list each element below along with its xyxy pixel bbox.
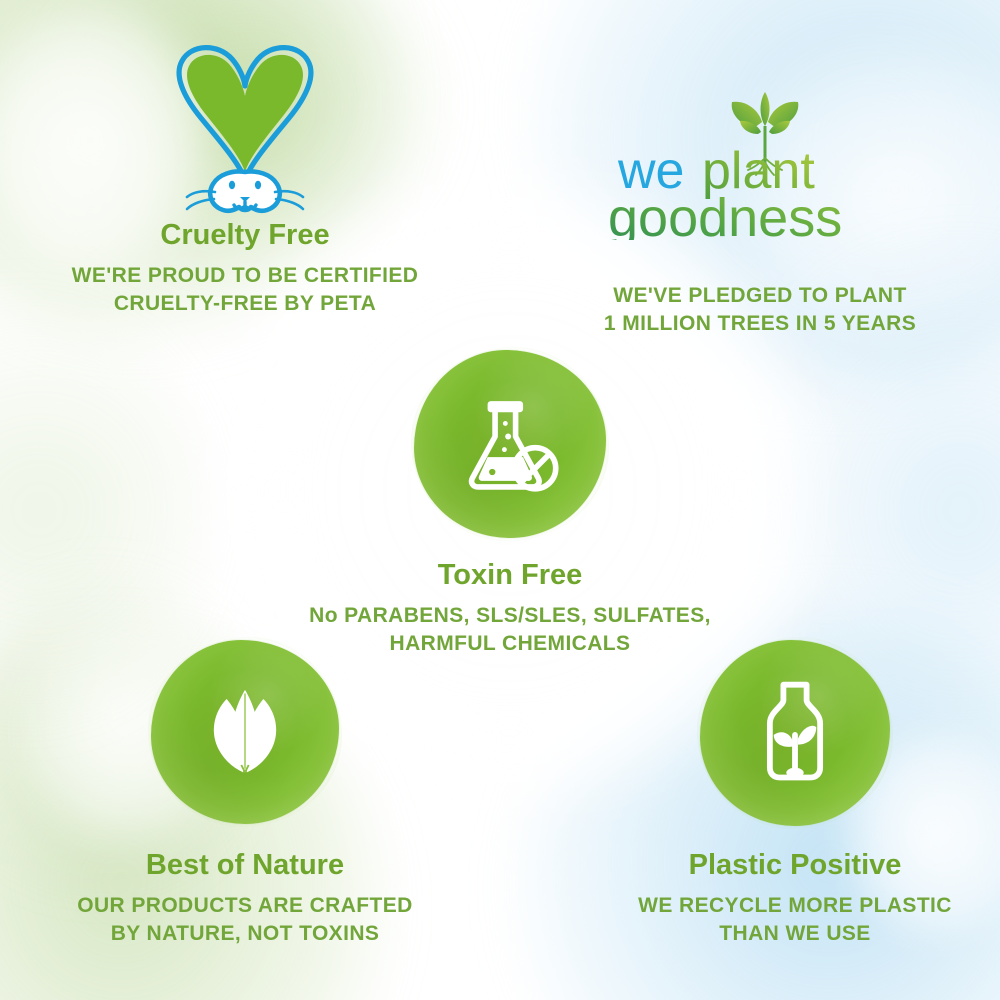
three-leaves-icon [190,677,300,787]
panel-plastic-positive: Plastic Positive WE RECYCLE MORE PLASTIC… [570,640,1000,947]
panel-best-of-nature: Best of Nature OUR PRODUCTS ARE CRAFTED … [20,640,470,947]
panel-title: Plastic Positive [570,850,1000,882]
panel-title: Best of Nature [20,850,470,882]
panel-toxin-free: Toxin Free No PARABENS, SLS/SLES, SULFAT… [280,350,740,657]
we-plant-goodness-sapling-logo: we plant goodness [610,90,910,240]
best-of-nature-badge [151,640,339,824]
logo-word-goodness: goodness [610,188,842,240]
no-chemicals-flask-icon [454,388,566,500]
panel-subtitle: WE'VE PLEDGED TO PLANT 1 MILLION TREES I… [530,282,990,337]
panel-cruelty-free: Cruelty Free WE'RE PROUD TO BE CERTIFIED… [10,20,480,317]
toxin-free-badge [414,350,606,538]
panel-subtitle: OUR PRODUCTS ARE CRAFTED BY NATURE, NOT … [20,892,470,947]
panel-title: Cruelty Free [10,220,480,252]
panel-subtitle: WE RECYCLE MORE PLASTIC THAN WE USE [570,892,1000,947]
panel-we-plant-goodness: we plant goodness WE'VE PLEDGED TO PLANT… [530,90,990,337]
panel-subtitle: WE'RE PROUD TO BE CERTIFIED CRUELTY-FREE… [10,262,480,317]
brand-values-infographic: Cruelty Free WE'RE PROUD TO BE CERTIFIED… [0,0,1000,1000]
peta-cruelty-free-bunny-icon [145,20,345,220]
plastic-positive-badge [700,640,890,826]
panel-title: Toxin Free [280,560,740,592]
bottle-with-sprout-icon [737,675,853,791]
